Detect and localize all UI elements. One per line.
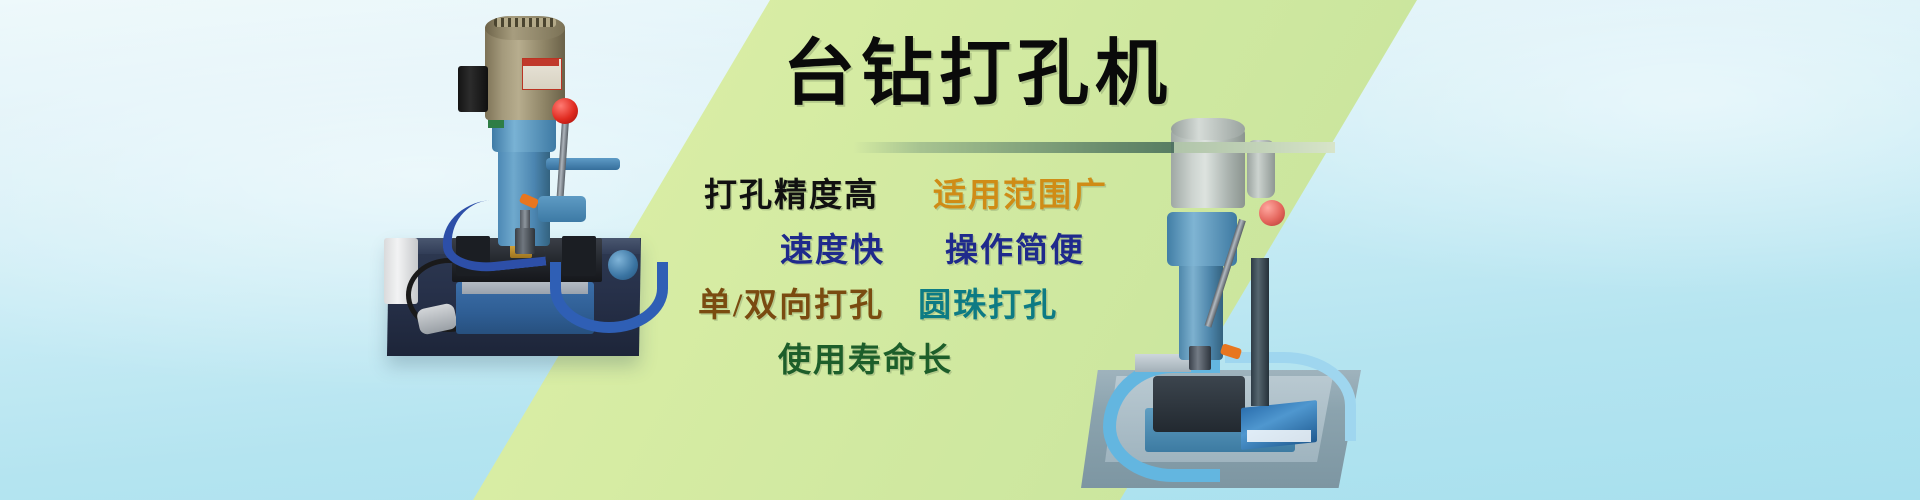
banner-title-text: 台钻打孔机 (783, 38, 1173, 110)
feature-item-1: 适用范围广 (933, 168, 1108, 216)
feature-row-4: 使用寿命长 (600, 333, 1360, 388)
banner-title: 台钻打孔机 (0, 38, 1920, 110)
feature-list: 打孔精度高 适用范围广 速度快 操作简便 单/双向打孔 圆珠打孔 使用寿命长 (600, 168, 1360, 388)
feature-item-2: 速度快 (780, 223, 885, 271)
feature-row-2: 速度快 操作简便 (600, 223, 1360, 278)
feature-row-1: 打孔精度高 适用范围广 (600, 168, 1360, 223)
product-banner: 台钻打孔机 打孔精度高 适用范围广 速度快 操作简便 单/双向打孔 圆珠打孔 使… (0, 0, 1920, 500)
feature-item-3: 操作简便 (945, 223, 1085, 271)
feature-row-3: 单/双向打孔 圆珠打孔 (600, 278, 1360, 333)
feature-item-4: 单/双向打孔 (698, 278, 884, 326)
title-divider-highlight (1174, 142, 1335, 153)
feature-item-0: 打孔精度高 (704, 168, 879, 216)
feature-item-5: 圆珠打孔 (918, 278, 1058, 326)
feature-item-6: 使用寿命长 (778, 333, 953, 381)
